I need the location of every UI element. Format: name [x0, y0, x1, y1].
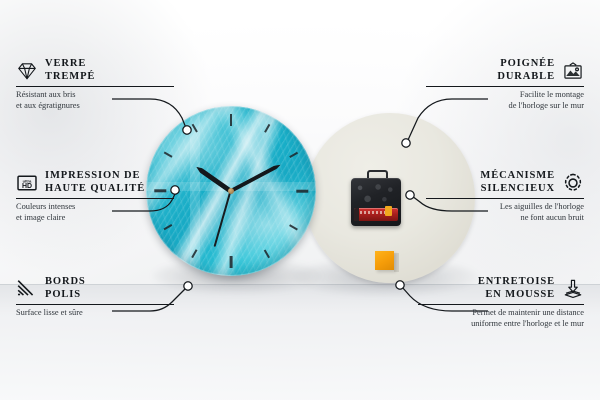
callout-header: ultra HD IMPRESSION DEHAUTE QUALITÉ	[16, 170, 174, 195]
callout-rule	[426, 86, 584, 87]
polished-edges-icon	[16, 278, 38, 300]
callout-title: IMPRESSION DEHAUTE QUALITÉ	[45, 170, 145, 195]
callout-title: POIGNÉEDURABLE	[497, 58, 555, 83]
product-infographic: VERRETREMPÉ Résistant aux briset aux égr…	[0, 0, 600, 400]
battery-negative-end	[354, 208, 359, 221]
callout-title: MÉCANISMESILENCIEUX	[480, 170, 555, 195]
callout-header: ENTRETOISEEN MOUSSE	[418, 276, 584, 301]
callout-bords-polis: BORDSPOLIS Surface lisse et sûre	[16, 276, 174, 319]
callout-subtitle: Permet de maintenir une distanceuniforme…	[418, 308, 584, 329]
callout-subtitle: Facilite le montagede l'horloge sur le m…	[426, 90, 584, 111]
callout-rule	[426, 198, 584, 199]
callout-rule	[16, 198, 174, 199]
callout-rule	[16, 304, 174, 305]
callout-impression-haute-qualite: ultra HD IMPRESSION DEHAUTE QUALITÉ Coul…	[16, 170, 174, 223]
callout-subtitle: Couleurs intenseset image claire	[16, 202, 174, 223]
callout-title: BORDSPOLIS	[45, 276, 86, 301]
callout-title: ENTRETOISEEN MOUSSE	[478, 276, 555, 301]
callout-header: POIGNÉEDURABLE	[426, 58, 584, 83]
callout-rule	[418, 304, 584, 305]
battery-positive-end	[385, 206, 392, 216]
callout-header: VERRETREMPÉ	[16, 58, 174, 83]
gear-icon	[562, 172, 584, 194]
callout-entretoise-en-mousse: ENTRETOISEEN MOUSSE Permet de maintenir …	[418, 276, 584, 329]
svg-text:HD: HD	[22, 183, 32, 190]
callout-poignee-durable: POIGNÉEDURABLE Facilite le montagede l'h…	[426, 58, 584, 111]
callout-subtitle: Les aiguilles de l'horlogene font aucun …	[426, 202, 584, 223]
callout-title: VERRETREMPÉ	[45, 58, 95, 83]
diamond-icon	[16, 60, 38, 82]
callout-mecanisme-silencieux: MÉCANISMESILENCIEUX Les aiguilles de l'h…	[426, 170, 584, 223]
battery-label	[360, 211, 386, 214]
movement-detail	[355, 183, 397, 205]
callout-rule	[16, 86, 174, 87]
foam-spacer	[375, 251, 394, 270]
ultra-hd-icon: ultra HD	[16, 172, 38, 194]
wall-hanger-icon	[562, 60, 584, 82]
callout-header: MÉCANISMESILENCIEUX	[426, 170, 584, 195]
callout-header: BORDSPOLIS	[16, 276, 174, 301]
foam-spacer-side	[394, 253, 399, 272]
callout-verre-trempe: VERRETREMPÉ Résistant aux briset aux égr…	[16, 58, 174, 111]
callout-subtitle: Surface lisse et sûre	[16, 308, 174, 319]
foam-spacer-icon	[562, 278, 584, 300]
callout-subtitle: Résistant aux briset aux égratignures	[16, 90, 174, 111]
